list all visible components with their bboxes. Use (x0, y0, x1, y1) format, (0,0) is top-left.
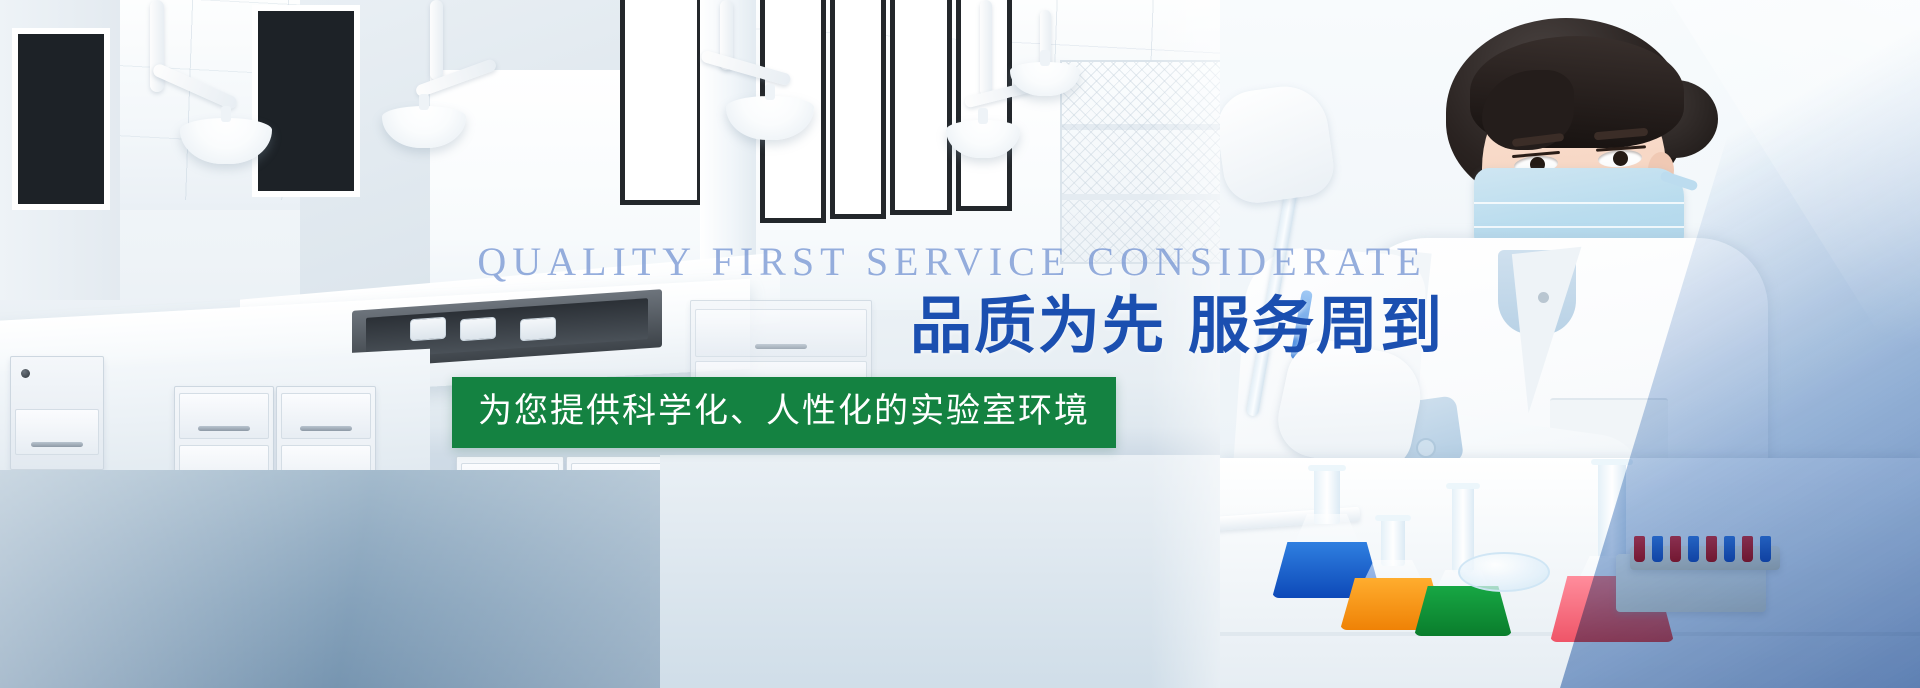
flask-rim (1446, 483, 1480, 489)
drawer (15, 409, 99, 455)
mask-pleat (1474, 226, 1684, 228)
cabinet-lock (21, 369, 30, 378)
drawer (179, 393, 269, 439)
headline-part-2: 服务周到 (1188, 292, 1444, 361)
flask-rim (1591, 459, 1633, 465)
coat-button (1538, 292, 1549, 303)
bench-socket-1 (410, 317, 446, 342)
window-3 (830, 0, 886, 219)
flask-rim (1308, 465, 1346, 471)
flask-liquid-green (1414, 586, 1512, 636)
subtitle-text: 为您提供科学化、人性化的实验室环境 (478, 391, 1090, 432)
lamp-arm-2 (430, 0, 443, 80)
flask-neck (1381, 518, 1405, 566)
window-1 (620, 0, 702, 205)
banner-copy: QUALITY FIRST SERVICE CONSIDERATE 品质为先服务… (452, 242, 1452, 448)
headline-part-1: 品质为先 (910, 292, 1166, 361)
hair-front (1470, 36, 1684, 148)
cabinet-1 (10, 356, 104, 470)
window-dark-left (12, 28, 110, 210)
drawer (281, 393, 371, 439)
subtitle-green-bar: 为您提供科学化、人性化的实验室环境 (452, 377, 1116, 448)
pupil-right (1613, 151, 1628, 166)
mask-pleat (1474, 202, 1684, 204)
headline: 品质为先服务周到 (452, 294, 1452, 361)
english-tagline: QUALITY FIRST SERVICE CONSIDERATE (452, 242, 1452, 282)
lamp-arm-4 (980, 0, 992, 96)
petri-dish (1458, 552, 1550, 592)
hero-banner: QUALITY FIRST SERVICE CONSIDERATE 品质为先服务… (0, 0, 1920, 688)
window-dark-mid (252, 5, 360, 197)
flask-rim (1375, 515, 1411, 521)
window-4 (890, 0, 952, 215)
